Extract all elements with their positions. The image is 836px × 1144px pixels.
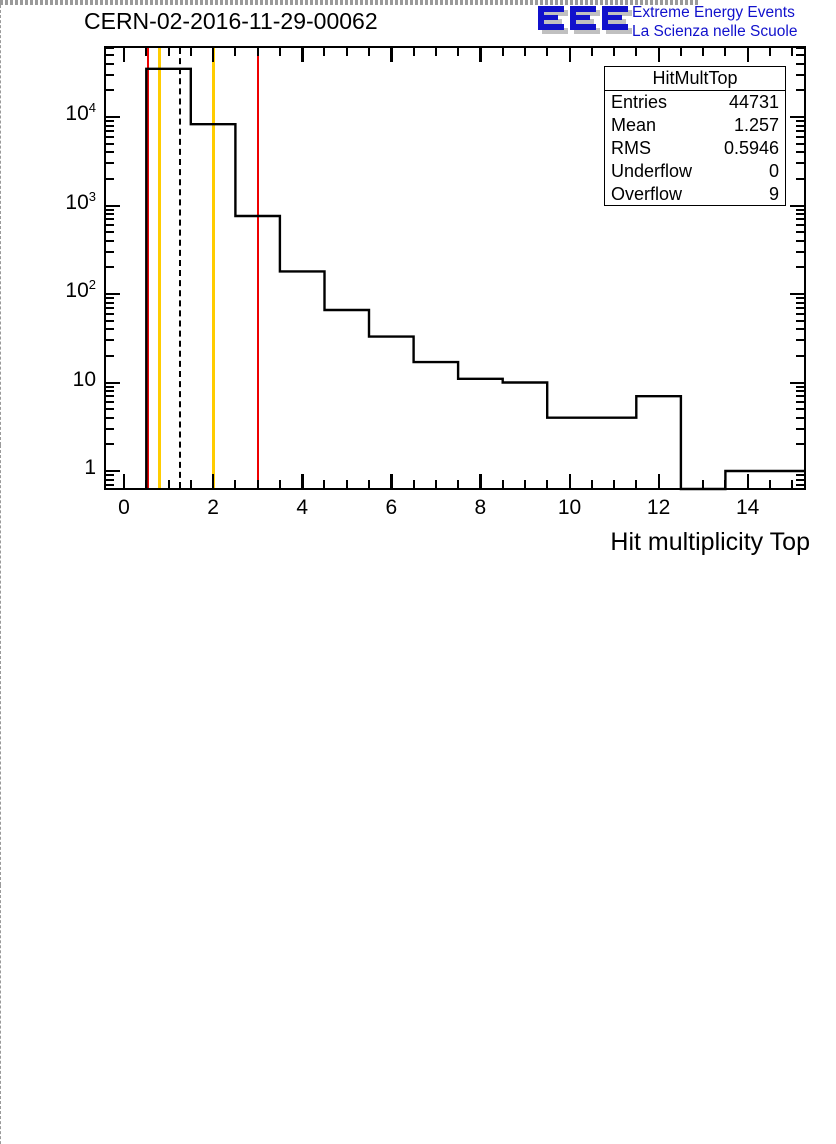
- y-tick-minor-right: [796, 390, 804, 392]
- x-tick-minor: [791, 480, 793, 488]
- y-tick-minor-right: [796, 297, 804, 299]
- y-tick-minor: [106, 209, 114, 211]
- y-tick-minor-right: [796, 218, 804, 220]
- y-tick-minor: [106, 307, 114, 309]
- y-tick-minor-right: [796, 355, 804, 357]
- x-tick-major-top: [569, 48, 571, 62]
- stats-key: RMS: [611, 137, 651, 160]
- x-tick-label: 6: [351, 496, 431, 520]
- x-tick-minor-top: [680, 48, 682, 56]
- marker-line-red-low: [147, 48, 150, 488]
- x-tick-label: 12: [619, 496, 699, 520]
- y-tick-minor: [106, 125, 114, 127]
- y-tick-minor: [106, 218, 114, 220]
- marker-line-red-high: [257, 48, 260, 488]
- x-tick-minor: [234, 480, 236, 488]
- y-tick-minor: [106, 484, 114, 486]
- y-tick-minor: [106, 224, 114, 226]
- stats-row: Mean1.257: [605, 114, 785, 137]
- y-tick-minor: [106, 328, 114, 330]
- y-tick-minor-right: [796, 136, 804, 138]
- x-tick-major-top: [212, 48, 214, 62]
- y-tick-minor-right: [796, 63, 804, 65]
- y-tick-minor: [106, 251, 114, 253]
- x-tick-minor-top: [346, 48, 348, 56]
- x-tick-major: [301, 474, 303, 488]
- y-tick-minor: [106, 408, 114, 410]
- y-tick-minor-right: [796, 120, 804, 122]
- y-tick-minor-right: [796, 479, 804, 481]
- x-tick-minor: [190, 480, 192, 488]
- x-tick-minor-top: [635, 48, 637, 56]
- y-tick-label: 104: [30, 102, 96, 126]
- y-tick-minor: [106, 386, 114, 388]
- x-tick-minor-top: [234, 48, 236, 56]
- x-tick-minor: [724, 480, 726, 488]
- x-tick-minor-top: [279, 48, 281, 56]
- y-tick-major: [106, 382, 120, 384]
- y-tick-label: 103: [30, 191, 96, 215]
- x-tick-minor-top: [724, 48, 726, 56]
- y-tick-minor-right: [796, 125, 804, 127]
- y-tick-major-right: [790, 470, 804, 472]
- x-tick-minor: [546, 480, 548, 488]
- y-tick-minor-right: [796, 224, 804, 226]
- y-tick-minor-right: [796, 307, 804, 309]
- y-tick-minor-right: [796, 240, 804, 242]
- x-tick-minor: [145, 480, 147, 488]
- y-tick-minor-right: [796, 130, 804, 132]
- y-tick-minor: [106, 474, 114, 476]
- y-tick-minor: [106, 74, 114, 76]
- x-tick-minor-top: [145, 48, 147, 56]
- y-tick-minor: [106, 120, 114, 122]
- y-tick-minor: [106, 231, 114, 233]
- y-tick-minor-right: [796, 178, 804, 180]
- x-tick-major: [747, 474, 749, 488]
- y-tick-major-right: [790, 205, 804, 207]
- x-tick-minor-top: [368, 48, 370, 56]
- y-tick-minor-right: [796, 408, 804, 410]
- x-tick-minor: [346, 480, 348, 488]
- x-tick-label: 14: [708, 496, 788, 520]
- x-tick-minor: [591, 480, 593, 488]
- x-tick-major: [479, 474, 481, 488]
- x-tick-minor: [702, 480, 704, 488]
- y-tick-minor: [106, 130, 114, 132]
- y-tick-minor-right: [796, 209, 804, 211]
- y-tick-minor: [106, 162, 114, 164]
- y-tick-minor: [106, 320, 114, 322]
- x-tick-major: [569, 474, 571, 488]
- x-tick-major-top: [658, 48, 660, 62]
- y-tick-label: 102: [30, 279, 96, 303]
- x-tick-label: 4: [262, 496, 342, 520]
- marker-line-orange-high: [212, 48, 215, 488]
- y-tick-major: [106, 205, 120, 207]
- y-tick-minor: [106, 240, 114, 242]
- x-tick-major-top: [479, 48, 481, 62]
- x-tick-minor: [435, 480, 437, 488]
- x-tick-minor-top: [791, 48, 793, 56]
- x-tick-minor: [613, 480, 615, 488]
- y-tick-minor-right: [796, 484, 804, 486]
- y-tick-minor: [106, 395, 114, 397]
- y-tick-minor: [106, 143, 114, 145]
- x-tick-minor-top: [323, 48, 325, 56]
- y-tick-major-right: [790, 116, 804, 118]
- stats-row: Entries44731: [605, 91, 785, 114]
- y-tick-minor: [106, 355, 114, 357]
- x-tick-minor-top: [413, 48, 415, 56]
- x-tick-minor: [769, 480, 771, 488]
- x-tick-minor-top: [613, 48, 615, 56]
- marker-line-mean: [179, 48, 181, 488]
- stats-row: Underflow0: [605, 160, 785, 183]
- gridline-vertical: [0, 5, 1, 445]
- y-tick-minor: [106, 339, 114, 341]
- stats-key: Entries: [611, 91, 667, 114]
- grid-layer: [0, 0, 698, 1144]
- x-tick-major-top: [123, 48, 125, 62]
- stats-value: 0: [769, 160, 779, 183]
- y-tick-minor: [106, 302, 114, 304]
- y-tick-minor-right: [796, 443, 804, 445]
- y-tick-minor: [106, 54, 114, 56]
- y-tick-minor-right: [796, 162, 804, 164]
- x-tick-label: 10: [530, 496, 610, 520]
- y-tick-minor: [106, 89, 114, 91]
- x-axis-title: Hit multiplicity Top: [610, 528, 810, 557]
- y-tick-minor: [106, 213, 114, 215]
- gridline-horizontal: [0, 4, 698, 5]
- x-tick-major-top: [301, 48, 303, 62]
- x-tick-minor-top: [591, 48, 593, 56]
- stats-box: HitMultTop Entries44731Mean1.257RMS0.594…: [604, 66, 786, 206]
- y-tick-minor-right: [796, 339, 804, 341]
- stats-value: 9: [769, 183, 779, 206]
- x-tick-major: [212, 474, 214, 488]
- x-tick-major: [390, 474, 392, 488]
- x-tick-minor-top: [457, 48, 459, 56]
- x-tick-label: 0: [84, 496, 164, 520]
- x-tick-label: 8: [440, 496, 520, 520]
- gridline-vertical: [0, 885, 1, 1144]
- marker-line-orange-low: [158, 48, 161, 488]
- y-tick-minor: [106, 266, 114, 268]
- y-tick-minor: [106, 428, 114, 430]
- y-tick-minor: [106, 297, 114, 299]
- x-tick-major-top: [390, 48, 392, 62]
- y-tick-major: [106, 293, 120, 295]
- y-tick-minor-right: [796, 328, 804, 330]
- y-tick-minor-right: [796, 47, 804, 49]
- stats-value: 44731: [729, 91, 779, 114]
- x-tick-minor-top: [524, 48, 526, 56]
- y-tick-minor: [106, 401, 114, 403]
- y-tick-minor: [106, 417, 114, 419]
- x-tick-minor: [457, 480, 459, 488]
- y-tick-minor: [106, 479, 114, 481]
- y-tick-minor-right: [796, 428, 804, 430]
- y-tick-label: 10: [30, 368, 96, 392]
- y-tick-minor-right: [796, 54, 804, 56]
- y-tick-minor: [106, 443, 114, 445]
- y-tick-minor-right: [796, 320, 804, 322]
- y-tick-minor-right: [796, 302, 804, 304]
- y-tick-minor: [106, 63, 114, 65]
- y-tick-minor-right: [796, 143, 804, 145]
- x-tick-minor: [524, 480, 526, 488]
- x-tick-minor: [413, 480, 415, 488]
- y-tick-minor: [106, 151, 114, 153]
- y-tick-minor-right: [796, 386, 804, 388]
- x-tick-minor-top: [502, 48, 504, 56]
- y-tick-major-right: [790, 382, 804, 384]
- y-tick-major: [106, 470, 120, 472]
- y-tick-label: 1: [30, 456, 96, 480]
- x-tick-label: 2: [173, 496, 253, 520]
- y-tick-minor: [106, 390, 114, 392]
- y-tick-minor: [106, 136, 114, 138]
- y-tick-minor-right: [796, 401, 804, 403]
- x-tick-minor: [502, 480, 504, 488]
- x-tick-minor: [257, 480, 259, 488]
- x-tick-major: [658, 474, 660, 488]
- x-tick-major-top: [747, 48, 749, 62]
- x-tick-minor-top: [435, 48, 437, 56]
- x-tick-minor-top: [546, 48, 548, 56]
- y-tick-minor-right: [796, 251, 804, 253]
- x-tick-minor-top: [702, 48, 704, 56]
- x-tick-major: [123, 474, 125, 488]
- stats-title: HitMultTop: [605, 67, 785, 91]
- y-tick-minor-right: [796, 231, 804, 233]
- x-tick-minor: [323, 480, 325, 488]
- stats-row: RMS0.5946: [605, 137, 785, 160]
- y-tick-minor: [106, 47, 114, 49]
- y-tick-minor-right: [796, 151, 804, 153]
- y-tick-minor-right: [796, 417, 804, 419]
- y-tick-minor: [106, 178, 114, 180]
- y-tick-minor-right: [796, 474, 804, 476]
- plot-canvas: CERN-02-2016-11-29-00062: [0, 0, 836, 572]
- x-tick-minor: [635, 480, 637, 488]
- x-tick-minor-top: [168, 48, 170, 56]
- x-tick-minor-top: [257, 48, 259, 56]
- y-tick-minor-right: [796, 395, 804, 397]
- x-tick-minor-top: [190, 48, 192, 56]
- y-tick-minor: [106, 313, 114, 315]
- x-tick-minor-top: [769, 48, 771, 56]
- y-tick-minor-right: [796, 89, 804, 91]
- stats-key: Mean: [611, 114, 656, 137]
- stats-key: Overflow: [611, 183, 682, 206]
- stats-row: Overflow9: [605, 183, 785, 206]
- stats-rows: Entries44731Mean1.257RMS0.5946Underflow0…: [605, 91, 785, 206]
- y-tick-minor-right: [796, 213, 804, 215]
- x-tick-minor: [680, 480, 682, 488]
- x-tick-minor: [168, 480, 170, 488]
- y-tick-major: [106, 116, 120, 118]
- y-tick-minor-right: [796, 266, 804, 268]
- stats-value: 1.257: [734, 114, 779, 137]
- gridline-vertical: [0, 445, 1, 885]
- y-tick-minor-right: [796, 313, 804, 315]
- y-tick-major-right: [790, 293, 804, 295]
- stats-value: 0.5946: [724, 137, 779, 160]
- x-tick-minor: [368, 480, 370, 488]
- x-tick-minor: [279, 480, 281, 488]
- y-tick-minor-right: [796, 74, 804, 76]
- stats-key: Underflow: [611, 160, 692, 183]
